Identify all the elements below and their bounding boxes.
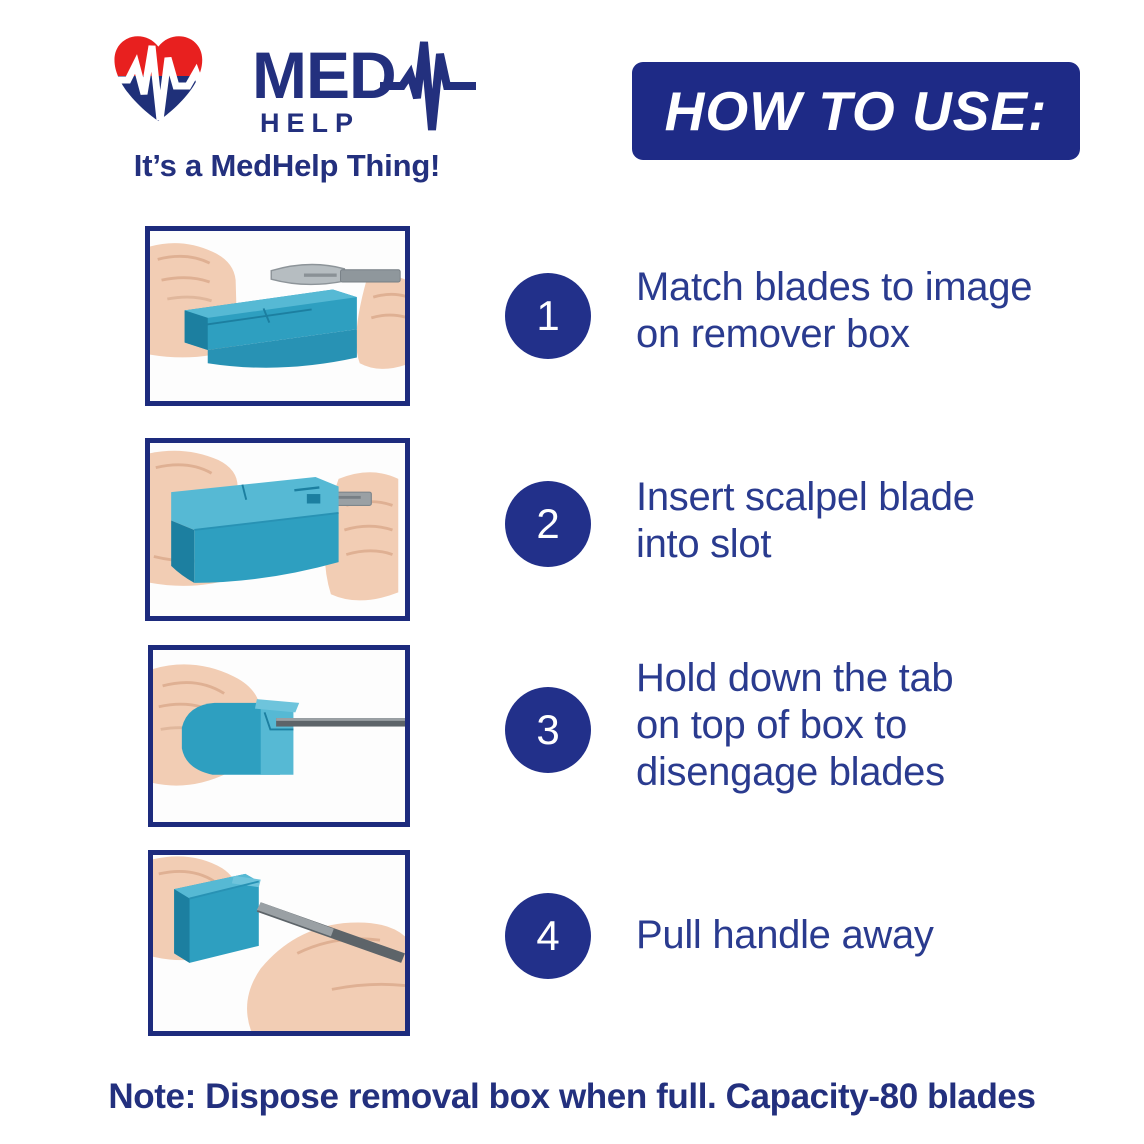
step-number-2: 2 <box>505 481 591 567</box>
footer-note: Note: Dispose removal box when full. Cap… <box>0 1077 1144 1117</box>
infographic-page: MED HELP It’s a MedHelp Thing! HOW TO US… <box>0 0 1144 1144</box>
step-number-3: 3 <box>505 687 591 773</box>
step-number-4: 4 <box>505 893 591 979</box>
step-text-3-line-3: disengage blades <box>636 749 953 796</box>
step-photo-3 <box>148 645 410 827</box>
step-text-3-line-1: Hold down the tab <box>636 655 953 702</box>
step-text-2-line-2: into slot <box>636 521 975 568</box>
step-photo-2 <box>145 438 410 621</box>
step-text-1-line-1: Match blades to image <box>636 264 1032 311</box>
scalpel-illustration <box>276 718 405 727</box>
step-text-2-line-1: Insert scalpel blade <box>636 474 975 521</box>
step-photo-1 <box>145 226 410 406</box>
step-text-2: Insert scalpel blade into slot <box>636 474 975 568</box>
step-text-4-line-1: Pull handle away <box>636 912 934 959</box>
step-text-1-line-2: on remover box <box>636 311 1032 358</box>
step-photo-4 <box>148 850 410 1036</box>
steps-list: 1 Match blades to image on remover box <box>0 0 1144 1144</box>
step-text-4: Pull handle away <box>636 912 934 959</box>
step-text-1: Match blades to image on remover box <box>636 264 1032 358</box>
step-text-3: Hold down the tab on top of box to disen… <box>636 655 953 797</box>
step-number-1: 1 <box>505 273 591 359</box>
step-text-3-line-2: on top of box to <box>636 702 953 749</box>
blade-remover-box <box>171 477 338 583</box>
blade-remover-box <box>182 699 299 775</box>
